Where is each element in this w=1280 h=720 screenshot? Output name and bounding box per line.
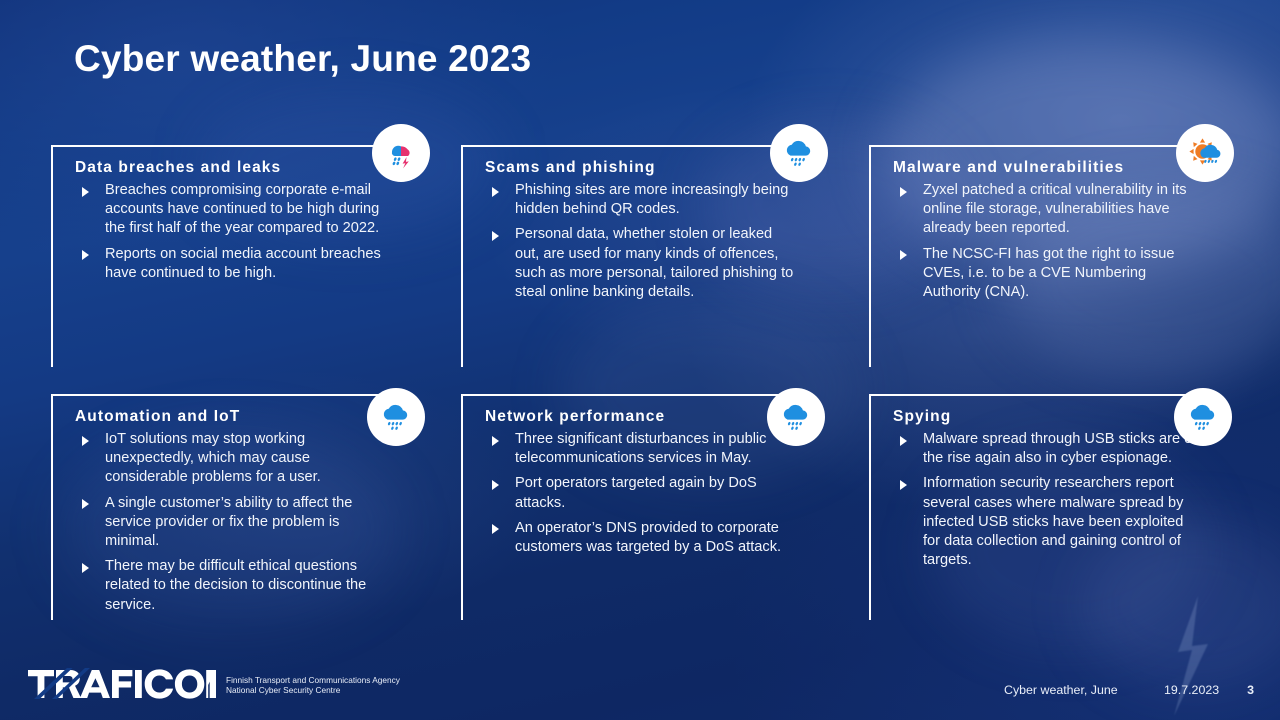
card-title: Scams and phishing bbox=[485, 159, 795, 177]
card-title: Network performance bbox=[485, 408, 795, 426]
card-bullet-list: IoT solutions may stop working unexpecte… bbox=[75, 430, 385, 615]
card-malware-and-vulnerabilities: Malware and vulnerabilities Zyxel patche… bbox=[869, 145, 1217, 367]
card-bullet-list: Phishing sites are more increasingly bei… bbox=[485, 181, 795, 302]
sun-behind-rain-cloud-icon bbox=[1176, 124, 1234, 182]
traficom-tagline: Finnish Transport and Communications Age… bbox=[226, 673, 400, 696]
card-bullet-list: Malware spread through USB sticks are on… bbox=[893, 430, 1203, 570]
rain-cloud-icon bbox=[767, 388, 825, 446]
bullet-item: Information security researchers report … bbox=[893, 474, 1203, 570]
bullet-item: An operator’s DNS provided to corporate … bbox=[485, 519, 795, 557]
bullet-item: There may be difficult ethical questions… bbox=[75, 557, 385, 615]
card-title: Data breaches and leaks bbox=[75, 159, 385, 177]
card-title: Automation and IoT bbox=[75, 408, 385, 426]
bullet-item: A single customer’s ability to affect th… bbox=[75, 494, 385, 552]
bullet-item: Breaches compromising corporate e-mail a… bbox=[75, 181, 385, 239]
card-bullet-list: Three significant disturbances in public… bbox=[485, 430, 795, 557]
rain-cloud-icon bbox=[770, 124, 828, 182]
bullet-item: Personal data, whether stolen or leaked … bbox=[485, 225, 795, 302]
card-title: Malware and vulnerabilities bbox=[893, 159, 1203, 177]
bullet-item: Port operators targeted again by DoS att… bbox=[485, 474, 795, 512]
slide-canvas: Cyber weather, June 2023 Data breaches a… bbox=[0, 0, 1280, 720]
bullet-item: Zyxel patched a critical vulnerability i… bbox=[893, 181, 1203, 239]
rain-cloud-icon bbox=[367, 388, 425, 446]
traficom-logo: Finnish Transport and Communications Age… bbox=[28, 668, 400, 700]
card-automation-and-iot: Automation and IoT IoT solutions may sto… bbox=[51, 394, 399, 620]
rain-cloud-icon bbox=[1174, 388, 1232, 446]
bullet-item: Reports on social media account breaches… bbox=[75, 245, 385, 283]
bullet-item: Phishing sites are more increasingly bei… bbox=[485, 181, 795, 219]
card-scams-and-phishing: Scams and phishing Phishing sites are mo… bbox=[461, 145, 809, 367]
footer-date: 19.7.2023 bbox=[1164, 683, 1242, 697]
card-spying: Spying Malware spread through USB sticks… bbox=[869, 394, 1217, 620]
traficom-wordmark-icon bbox=[28, 668, 216, 700]
card-network-performance: Network performance Three significant di… bbox=[461, 394, 809, 620]
bullet-item: IoT solutions may stop working unexpecte… bbox=[75, 430, 385, 488]
footer-meta: Cyber weather, June 19.7.2023 3 bbox=[1004, 683, 1254, 697]
card-bullet-list: Breaches compromising corporate e-mail a… bbox=[75, 181, 385, 283]
card-data-breaches-and-leaks: Data breaches and leaks Breaches comprom… bbox=[51, 145, 399, 367]
bullet-item: The NCSC-FI has got the right to issue C… bbox=[893, 245, 1203, 303]
card-title: Spying bbox=[893, 408, 1203, 426]
thunderstorm-rain-cloud-icon bbox=[372, 124, 430, 182]
page-title: Cyber weather, June 2023 bbox=[74, 38, 531, 80]
bullet-item: Three significant disturbances in public… bbox=[485, 430, 795, 468]
card-bullet-list: Zyxel patched a critical vulnerability i… bbox=[893, 181, 1203, 302]
footer-page-number: 3 bbox=[1242, 683, 1254, 697]
footer-document-title: Cyber weather, June bbox=[1004, 683, 1164, 697]
bullet-item: Malware spread through USB sticks are on… bbox=[893, 430, 1203, 468]
